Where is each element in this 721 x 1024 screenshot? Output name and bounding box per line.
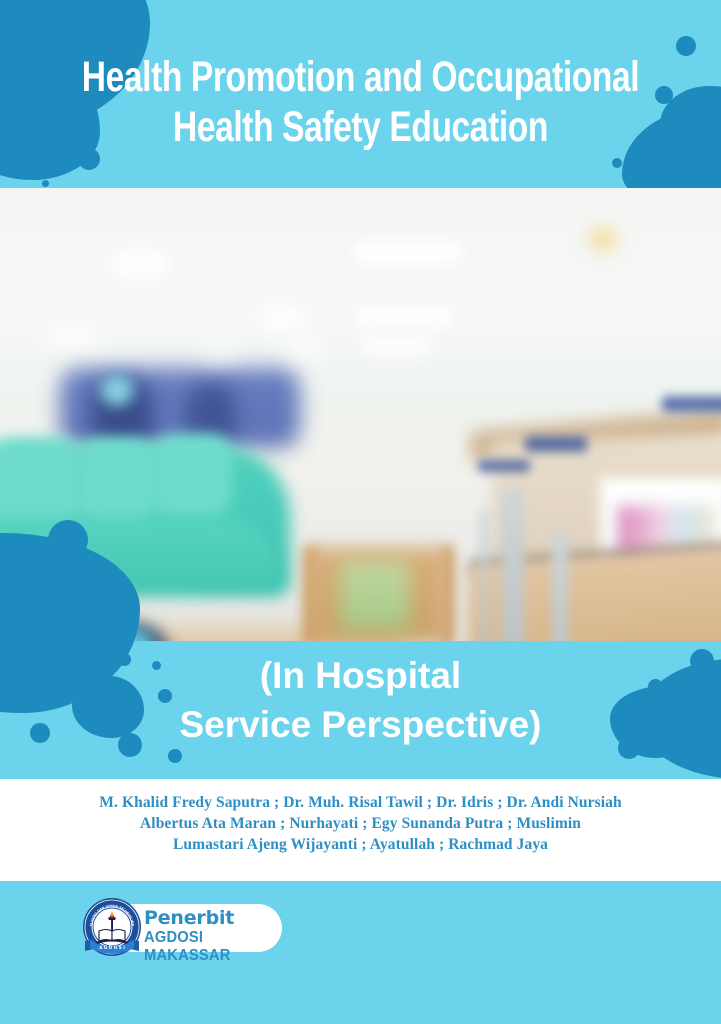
title-line-2: Health Safety Education [79,102,641,152]
svg-text:A G D O S I: A G D O S I [99,945,125,950]
publisher-text: Penerbit AGDOSI MAKASSAR [144,908,284,965]
splash-dot-tl-7 [126,26,134,34]
splash-dot-tl-5 [42,180,49,187]
splash-dot-tr-3 [700,90,710,100]
photo-ceiling-light-9 [200,348,240,362]
authors-line-3: Lumastari Ajeng Wijayanti ; Ayatullah ; … [0,834,721,855]
photo-chair-back-2 [78,438,158,524]
splash-dot-ml-8 [168,749,182,763]
photo-ceiling-light-2 [352,240,462,264]
book-subtitle: (In Hospital Service Perspective) [0,651,721,749]
splash-dot-tr-1 [676,36,696,56]
photo-ceiling-light-5 [258,306,306,332]
photo-ceiling-light-4 [362,338,432,354]
photo-signboard-3 [478,460,530,472]
splash-dot-tr-2 [655,86,673,104]
splash-dot-tl-1 [22,118,46,142]
title-line-1: Health Promotion and Occupational [79,52,641,102]
authors-list: M. Khalid Fredy Saputra ; Dr. Muh. Risal… [0,792,721,855]
publisher-logo: A G D O S I ASOSIASI GURU DAN DOSEN SELU… [82,897,282,959]
photo-door-glass [340,560,410,630]
photo-ceiling-light-8 [590,228,616,250]
photo-chair-back-1 [0,438,80,528]
splash-dot-tr-4 [612,158,622,168]
photo-signboard-2 [662,396,721,412]
agdosi-ribbon-icon: A G D O S I [84,937,140,955]
photo-ceiling-light-1 [108,248,170,280]
photo-ceiling-light-6 [290,338,324,356]
book-title: Health Promotion and Occupational Health… [79,52,641,152]
photo-chair-back-3 [152,434,232,518]
splash-dot-tl-2 [62,128,73,139]
publisher-name-line-2: AGDOSI MAKASSAR [144,929,273,965]
publisher-name-line-1: Penerbit [144,908,284,929]
subtitle-line-1: (In Hospital [0,651,721,700]
splash-dot-tl-6 [106,38,120,52]
book-cover: Health Promotion and Occupational Health… [0,0,721,1024]
photo-person-1-head [100,374,134,406]
photo-post-1 [502,488,524,641]
splash-dot-tl-4 [16,162,25,171]
photo-post-3 [478,508,492,641]
subtitle-line-2: Service Perspective) [0,700,721,749]
photo-ceiling-light-7 [42,328,102,346]
photo-post-2 [552,530,568,641]
splash-left-big-3 [30,578,130,646]
photo-signboard-1 [525,436,587,452]
authors-line-2: Albertus Ata Maran ; Nurhayati ; Egy Sun… [0,813,721,834]
authors-line-1: M. Khalid Fredy Saputra ; Dr. Muh. Risal… [0,792,721,813]
photo-ceiling-light-3 [356,308,452,328]
